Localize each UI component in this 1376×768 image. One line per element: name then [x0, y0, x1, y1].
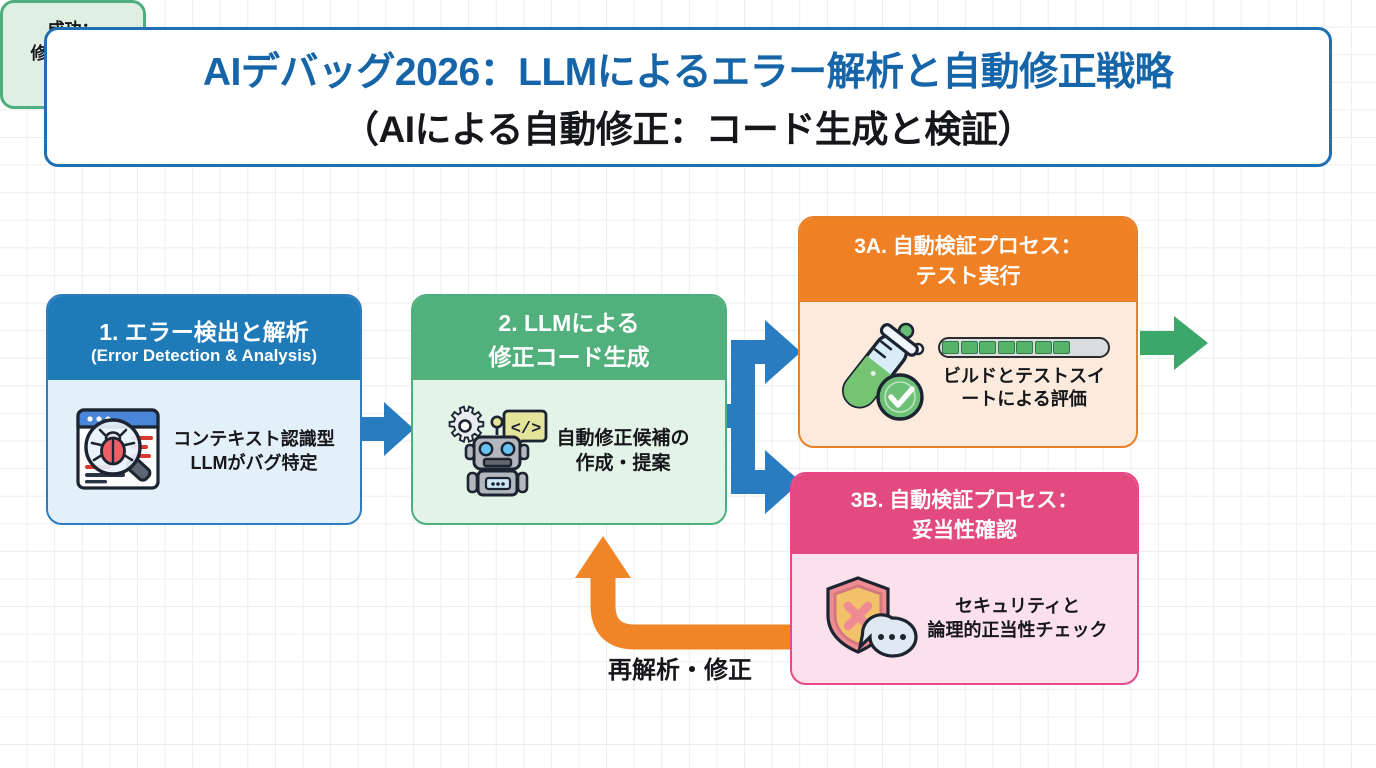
card-step1-error-detection[interactable]: 1. エラー検出と解析 (Error Detection & Analysis)	[46, 294, 362, 525]
card-step3b-header: 3B. 自動検証プロセス： 妥当性確認	[792, 474, 1137, 554]
page-title-line1: AIデバッグ2026：LLMによるエラー解析と自動修正戦略	[203, 41, 1173, 97]
card-step3b-body-text: セキュリティと 論理的正当性チェック	[928, 595, 1108, 642]
card-step2-body-text: 自動修正候補の 作成・提案	[556, 427, 689, 476]
card-step3a-heading-line2: テスト実行	[916, 260, 1021, 290]
card-step1-body-text: コンテキスト認識型 LLMがバグ特定	[173, 428, 334, 475]
card-step3a-heading-line1: 3A. 自動検証プロセス：	[854, 230, 1082, 260]
title-card: AIデバッグ2026：LLMによるエラー解析と自動修正戦略 （AIによる自動修正…	[44, 27, 1332, 167]
card-step3b-validity-check[interactable]: 3B. 自動検証プロセス： 妥当性確認 セキュリティと 論理的正当性チェック	[790, 472, 1139, 685]
card-step3a-test-execution[interactable]: 3A. 自動検証プロセス： テスト実行	[798, 216, 1138, 448]
card-step2-body: </> 自動修正候補の 作成・提案	[413, 380, 725, 523]
arrow-step3a-to-success	[1140, 312, 1210, 374]
bug-magnifier-icon	[73, 403, 165, 500]
card-step1-heading: 1. エラー検出と解析	[99, 313, 309, 347]
feedback-loop-label: 再解析・修正	[608, 650, 752, 685]
test-tube-check-icon	[826, 319, 930, 430]
card-step3b-heading-line1: 3B. 自動検証プロセス：	[851, 484, 1079, 514]
card-step2-heading-line1: 2. LLMによる	[498, 304, 639, 338]
page-title-line2: （AIによる自動修正：コード生成と検証）	[342, 99, 1034, 153]
card-step1-body: コンテキスト認識型 LLMがバグ特定	[48, 380, 360, 523]
card-step1-subheading: (Error Detection & Analysis)	[91, 346, 317, 366]
card-step1-header: 1. エラー検出と解析 (Error Detection & Analysis)	[48, 296, 360, 380]
card-step2-heading-line2: 修正コード生成	[489, 338, 650, 372]
arrow-step1-to-step2	[358, 398, 416, 460]
card-step3b-heading-line2: 妥当性確認	[912, 514, 1017, 544]
shield-cross-chat-icon	[822, 572, 920, 665]
card-step3a-progress-column: ビルドとテストスイ ートによる評価	[938, 337, 1110, 412]
card-step3a-header: 3A. 自動検証プロセス： テスト実行	[800, 218, 1136, 302]
card-step3a-body: ビルドとテストスイ ートによる評価	[800, 302, 1136, 446]
card-step3a-body-text: ビルドとテストスイ ートによる評価	[943, 365, 1105, 412]
card-step3b-body: セキュリティと 論理的正当性チェック	[792, 554, 1137, 683]
card-step2-header: 2. LLMによる 修正コード生成	[413, 296, 725, 380]
card-step2-code-generation[interactable]: 2. LLMによる 修正コード生成 </>	[411, 294, 727, 525]
build-progress-bar	[938, 337, 1110, 358]
robot-code-icon: </>	[448, 401, 548, 502]
